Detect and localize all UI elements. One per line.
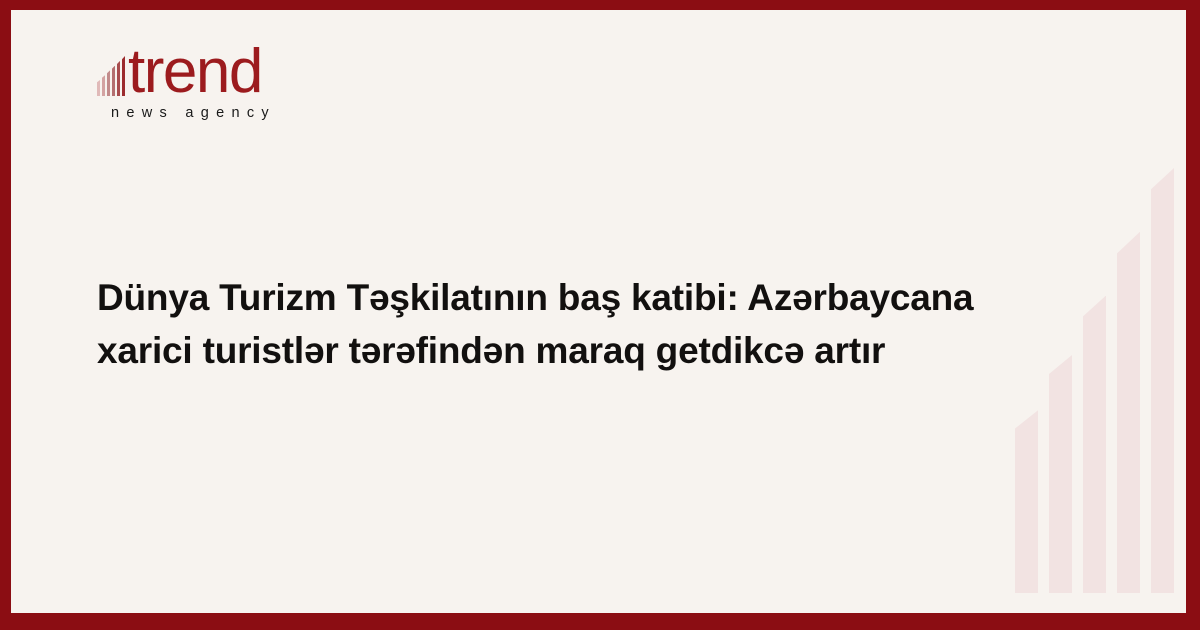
logo-bar-1 xyxy=(97,80,100,96)
decorative-bar-5 xyxy=(1151,168,1174,593)
decorative-bar-2 xyxy=(1049,355,1072,593)
decorative-bar-3 xyxy=(1083,296,1106,594)
card-canvas: trend news agency Dünya Turizm Təşkilatı… xyxy=(11,10,1186,613)
logo-wordmark: trend xyxy=(128,47,262,98)
logo-bar-4 xyxy=(112,66,115,96)
logo-bar-6 xyxy=(122,56,125,96)
decorative-bar-1 xyxy=(1015,410,1038,593)
logo-bar-2 xyxy=(102,75,105,96)
logo-bar-3 xyxy=(107,70,110,96)
logo-bars-icon xyxy=(97,56,127,96)
brand-logo[interactable]: trend news agency xyxy=(97,40,397,121)
headline-text: Dünya Turizm Təşkilatının baş katibi: Az… xyxy=(97,272,1037,377)
decorative-bar-4 xyxy=(1117,232,1140,593)
logo-bar-5 xyxy=(117,61,120,96)
decorative-ascending-bars xyxy=(996,168,1186,593)
logo-tagline: news agency xyxy=(111,105,397,121)
social-share-card: trend news agency Dünya Turizm Təşkilatı… xyxy=(0,0,1200,630)
logo-wordmark-row: trend xyxy=(97,40,397,98)
